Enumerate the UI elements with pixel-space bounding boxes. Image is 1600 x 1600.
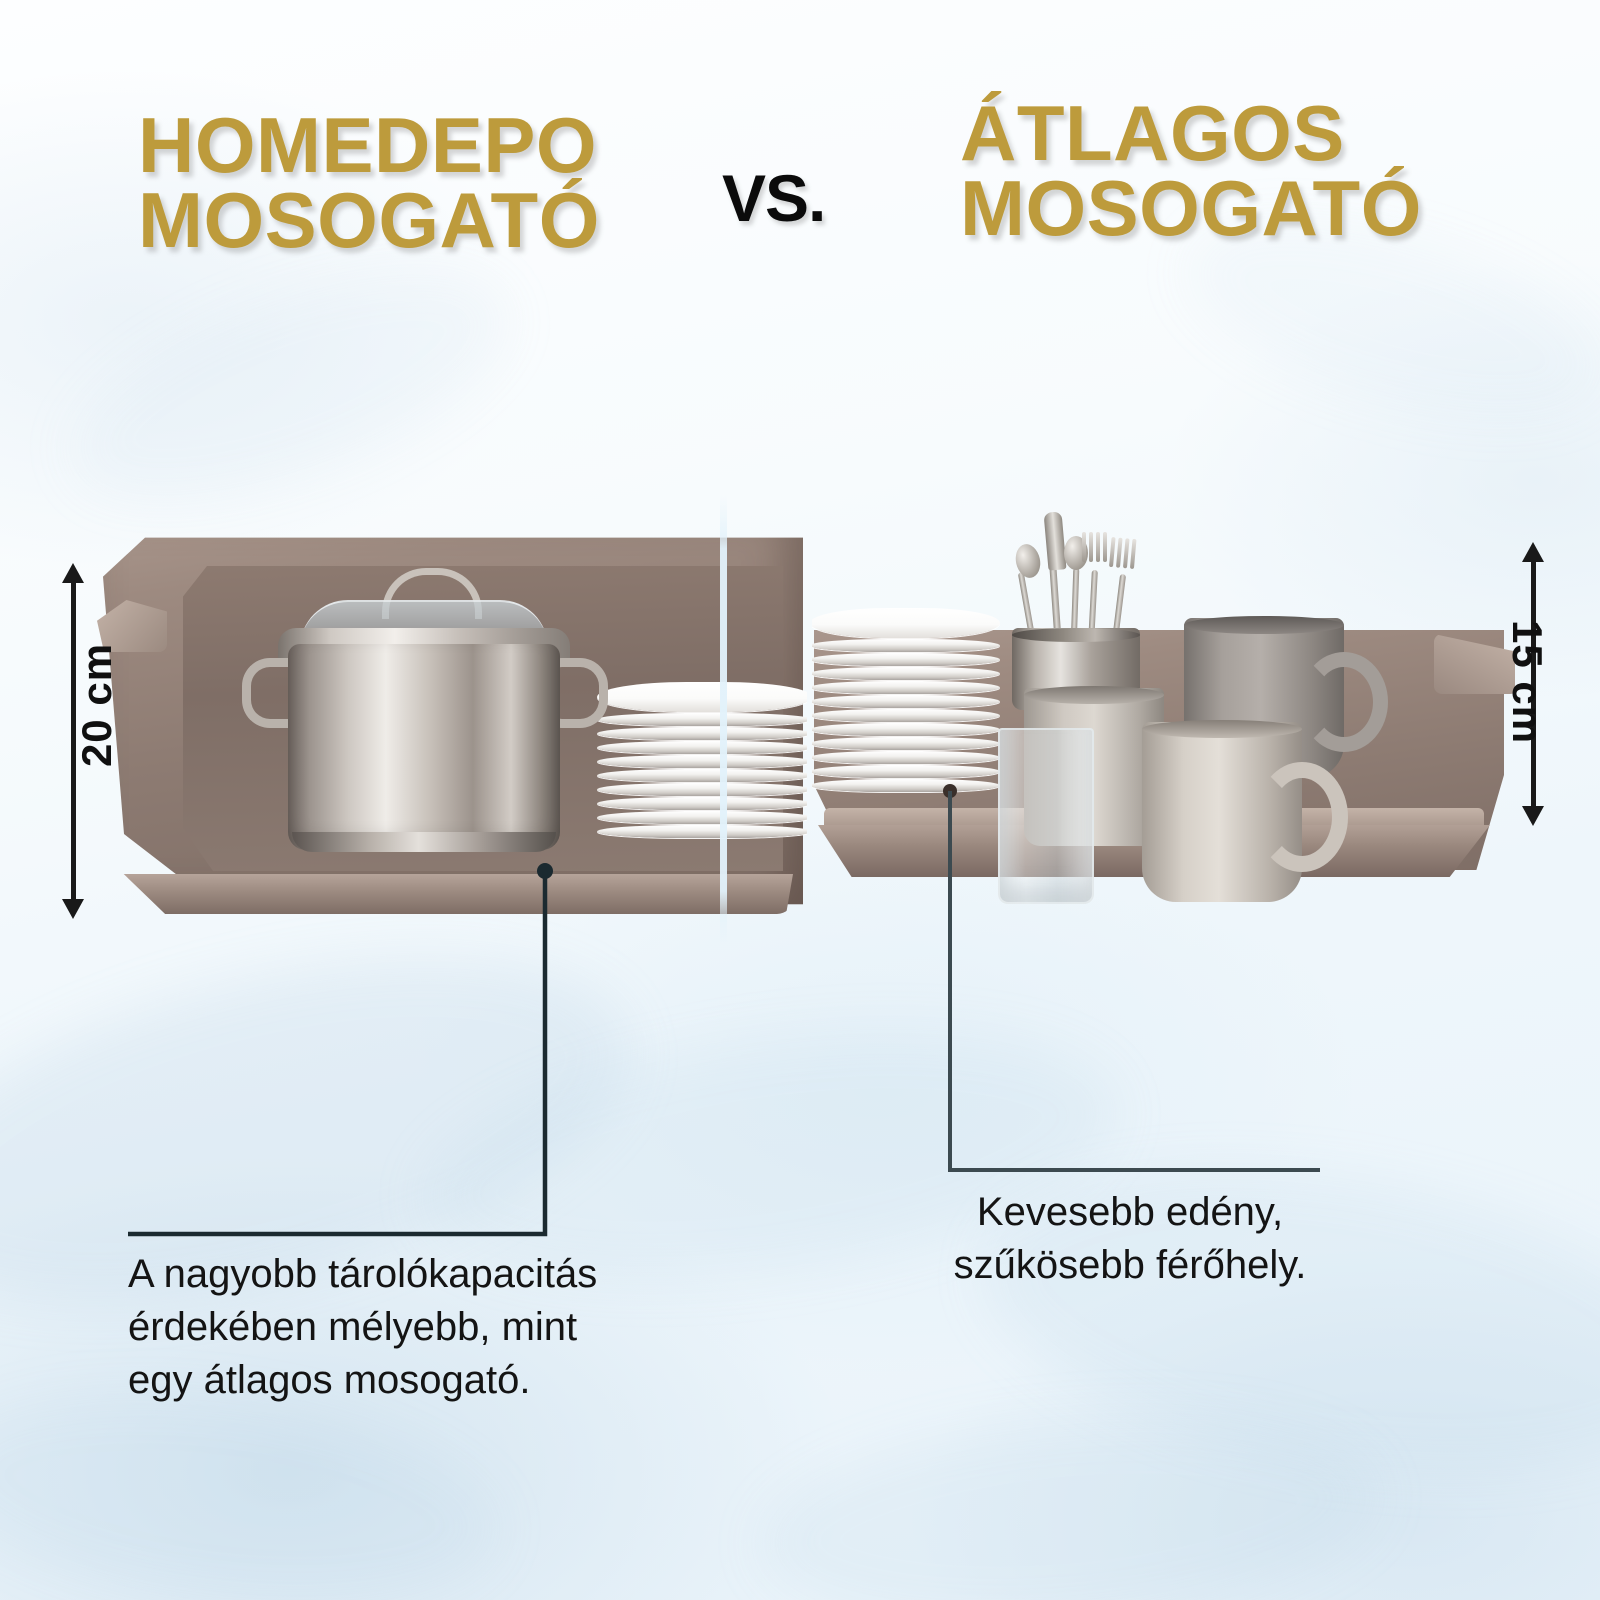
right-depth-label: 15 cm — [1503, 620, 1551, 744]
plate — [812, 737, 1000, 750]
plate — [812, 681, 1000, 694]
cutlery-caddy — [1012, 510, 1140, 710]
stainless-stock-pot — [270, 596, 580, 856]
plate — [597, 825, 807, 838]
plate — [812, 653, 1000, 666]
plate — [812, 709, 1000, 722]
arrow-head-down-icon — [62, 899, 84, 919]
clear-drinking-glass — [998, 728, 1094, 904]
white-plate-stack — [812, 608, 1000, 793]
versus-label: VS. — [722, 160, 825, 236]
plate — [597, 741, 807, 754]
marble-vein — [45, 226, 535, 543]
plate — [597, 769, 807, 782]
plate — [812, 765, 1000, 778]
right-product-title: ÁTLAGOS MOSOGATÓ — [960, 96, 1520, 246]
beige-mug-front — [1142, 722, 1302, 902]
mug-handle — [1300, 652, 1388, 752]
left-photo-panel — [85, 500, 807, 940]
plate — [812, 608, 1000, 638]
mug-rim — [1024, 686, 1164, 704]
mug-rim — [1142, 720, 1302, 738]
arrow-head-down-icon — [1522, 806, 1544, 826]
plate — [812, 667, 1000, 680]
sink-front-lip — [103, 874, 793, 914]
panel-divider — [720, 495, 727, 945]
pot-body — [288, 644, 560, 850]
left-caption: A nagyobb tárolókapacitás érdekében mély… — [128, 1248, 668, 1406]
plate — [812, 639, 1000, 652]
plate — [597, 797, 807, 810]
plate — [597, 727, 807, 740]
marble-vein — [963, 1125, 1600, 1514]
plate — [597, 755, 807, 768]
marble-vein — [752, 1393, 1387, 1600]
left-depth-label: 20 cm — [73, 643, 121, 767]
left-caption-line-3: egy átlagos mosogató. — [128, 1354, 668, 1407]
plate — [812, 695, 1000, 708]
plate — [812, 723, 1000, 736]
right-caption-line-1: Kevesebb edény, — [920, 1186, 1340, 1239]
fork-icon — [1082, 532, 1108, 568]
plate — [812, 779, 1000, 792]
right-caption-line-2: szűkösebb férőhely. — [920, 1239, 1340, 1292]
mug-handle — [1256, 762, 1348, 872]
left-caption-line-2: érdekében mélyebb, mint — [128, 1301, 668, 1354]
fork-icon-2 — [1108, 537, 1137, 575]
plate — [597, 713, 807, 726]
white-plate-stack — [597, 682, 807, 839]
plate — [597, 811, 807, 824]
knife-icon — [1044, 511, 1067, 570]
plate — [597, 682, 807, 712]
plate — [597, 783, 807, 796]
infographic-canvas: HOMEDEPO MOSOGATÓ VS. ÁTLAGOS MOSOGATÓ — [0, 0, 1600, 1600]
right-photo-panel — [812, 500, 1515, 940]
left-product-title: HOMEDEPO MOSOGATÓ — [138, 108, 698, 258]
mug-rim — [1184, 616, 1344, 634]
comparison-photo-stage — [85, 500, 1515, 940]
left-caption-line-1: A nagyobb tárolókapacitás — [128, 1248, 668, 1301]
pot-base — [292, 832, 556, 852]
plate — [812, 751, 1000, 764]
right-caption: Kevesebb edény, szűkösebb férőhely. — [920, 1186, 1340, 1292]
